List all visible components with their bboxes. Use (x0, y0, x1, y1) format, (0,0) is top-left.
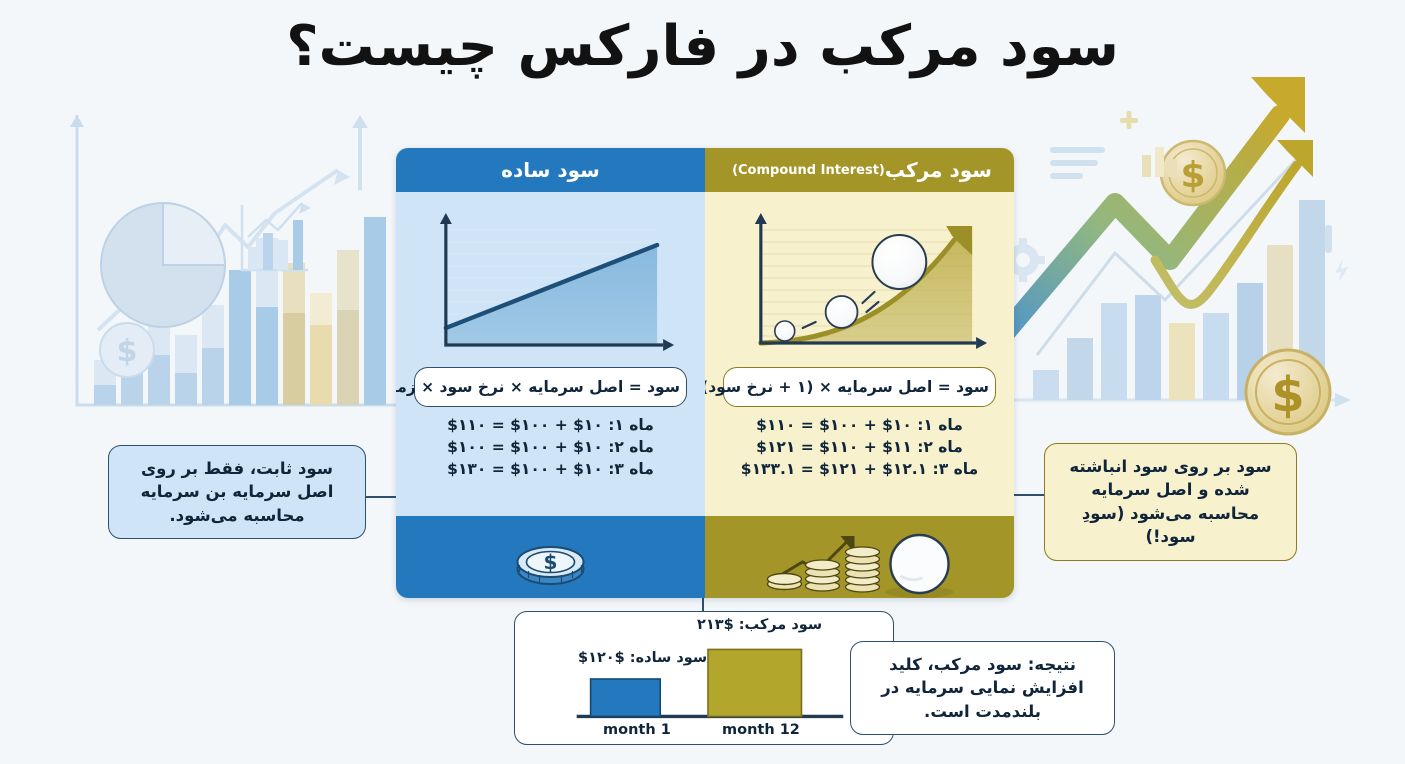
compound-formula-base: سود = اصل سرمایه × (۱ + نرخ سود) (701, 378, 989, 396)
compound-formula: سود = اصل سرمایه × (۱ + نرخ سود)زمان (723, 367, 996, 407)
axis-tick-1-month: 1 month (603, 722, 671, 738)
bar-compound (708, 649, 802, 716)
callout-compound-interest: سود بر روی سود انباشته شده و اصل سرمایه … (1044, 443, 1297, 561)
list-item: ماه ۲: ۱۱$ + ۱۱۰$ = ۱۲۱$ (715, 436, 1004, 458)
right-background-growth-icon: $ $ (1005, 55, 1405, 460)
svg-text:$: $ (544, 550, 558, 574)
list-item: ماه ۱: ۱۰$ + ۱۰۰$ = ۱۱۰$ (406, 414, 695, 436)
left-background-charts-icon: $ (20, 85, 410, 430)
bar-simple (591, 679, 661, 716)
callout-conclusion: نتیجه: سود مرکب، کلید افزایش نمایی سرمای… (850, 641, 1115, 735)
svg-text:$: $ (117, 334, 138, 369)
svg-text:$: $ (1180, 155, 1205, 196)
simple-panel-footer: $ (396, 516, 705, 598)
page-title: سود مرکب در فارکس چیست؟ (0, 14, 1405, 79)
exponential-snowball-chart-icon (715, 200, 1004, 365)
comparison-card: سود مرکب (Compound Interest) (396, 148, 1014, 598)
list-item: ماه ۳: ۱۲.۱$ + ۱۲۱$ = ۱۳۳.۱$ (715, 458, 1004, 480)
simple-interest-panel: سود ساده (396, 148, 705, 598)
list-item: ماه ۲: ۱۰$ + ۱۰۰$ = ۱۰۰$ (406, 436, 695, 458)
simple-header-title: سود ساده (501, 158, 600, 182)
connector-right (1012, 494, 1046, 496)
bar-label-compound: سود مرکب: $۲۱۳ (697, 617, 822, 633)
simple-formula: سود = اصل سرمایه × نرخ سود × زمان (414, 367, 687, 407)
growing-coin-stacks-and-snowball-icon (705, 516, 1014, 598)
svg-text:$: $ (1271, 367, 1304, 423)
compound-header-english: (Compound Interest) (727, 163, 885, 178)
list-item: ماه ۱: ۱۰$ + ۱۰۰$ = ۱۱۰$ (715, 414, 1004, 436)
connector-bottom (702, 598, 704, 612)
bar-label-simple: سود ساده: $۱۲۰$ (578, 650, 707, 666)
compound-panel-body: سود = اصل سرمایه × (۱ + نرخ سود)زمان ماه… (705, 192, 1014, 516)
simple-panel-body: سود = اصل سرمایه × نرخ سود × زمان ماه ۱:… (396, 192, 705, 516)
axis-tick-12-month: 12 month (722, 722, 800, 738)
linear-growth-chart-icon (406, 200, 695, 365)
simple-panel-header: سود ساده (396, 148, 705, 192)
list-item: ماه ۳: ۱۰$ + ۱۰۰$ = ۱۳۰$ (406, 458, 695, 480)
single-dollar-coin-icon: $ (396, 516, 705, 598)
callout-simple-interest: سود ثابت، فقط بر روی اصل سرمایه بن سرمای… (108, 445, 366, 539)
compound-panel-footer (705, 516, 1014, 598)
simple-rows: ماه ۱: ۱۰$ + ۱۰۰$ = ۱۱۰$ ماه ۲: ۱۰$ + ۱۰… (406, 414, 695, 480)
connector-left (366, 496, 398, 498)
compound-interest-panel: سود مرکب (Compound Interest) (705, 148, 1014, 598)
comparison-bar-chart: سود ساده: $۱۲۰$ سود مرکب: $۲۱۳ 1 month 1… (514, 611, 894, 745)
compound-panel-header: سود مرکب (Compound Interest) (705, 148, 1014, 192)
compound-header-title: سود مرکب (885, 158, 992, 182)
compound-rows: ماه ۱: ۱۰$ + ۱۰۰$ = ۱۱۰$ ماه ۲: ۱۱$ + ۱۱… (715, 414, 1004, 480)
